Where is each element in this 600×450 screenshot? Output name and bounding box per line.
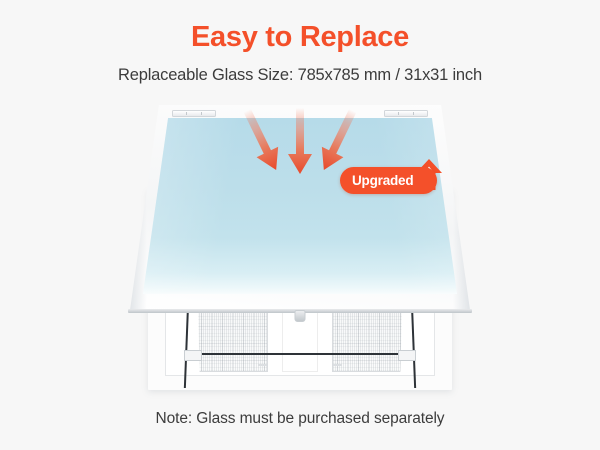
upgraded-badge-label: Upgraded — [340, 167, 437, 194]
footer-note: Note: Glass must be purchased separately — [0, 410, 600, 428]
header: Easy to Replace Replaceable Glass Size: … — [0, 0, 600, 85]
upgraded-badge: Upgraded — [340, 167, 437, 194]
page-title: Easy to Replace — [0, 22, 600, 54]
hinge-left — [172, 110, 216, 117]
hinge-right — [384, 110, 428, 117]
latch-knob — [295, 310, 306, 322]
corner-bracket-right — [398, 350, 416, 361]
glass-size-subtitle: Replaceable Glass Size: 785x785 mm / 31x… — [0, 54, 600, 85]
screw-right — [333, 364, 342, 366]
support-arm-bottom — [190, 353, 410, 355]
corner-bracket-left — [184, 350, 202, 361]
product-illustration: Upgraded — [0, 105, 600, 395]
screw-left — [258, 364, 267, 366]
